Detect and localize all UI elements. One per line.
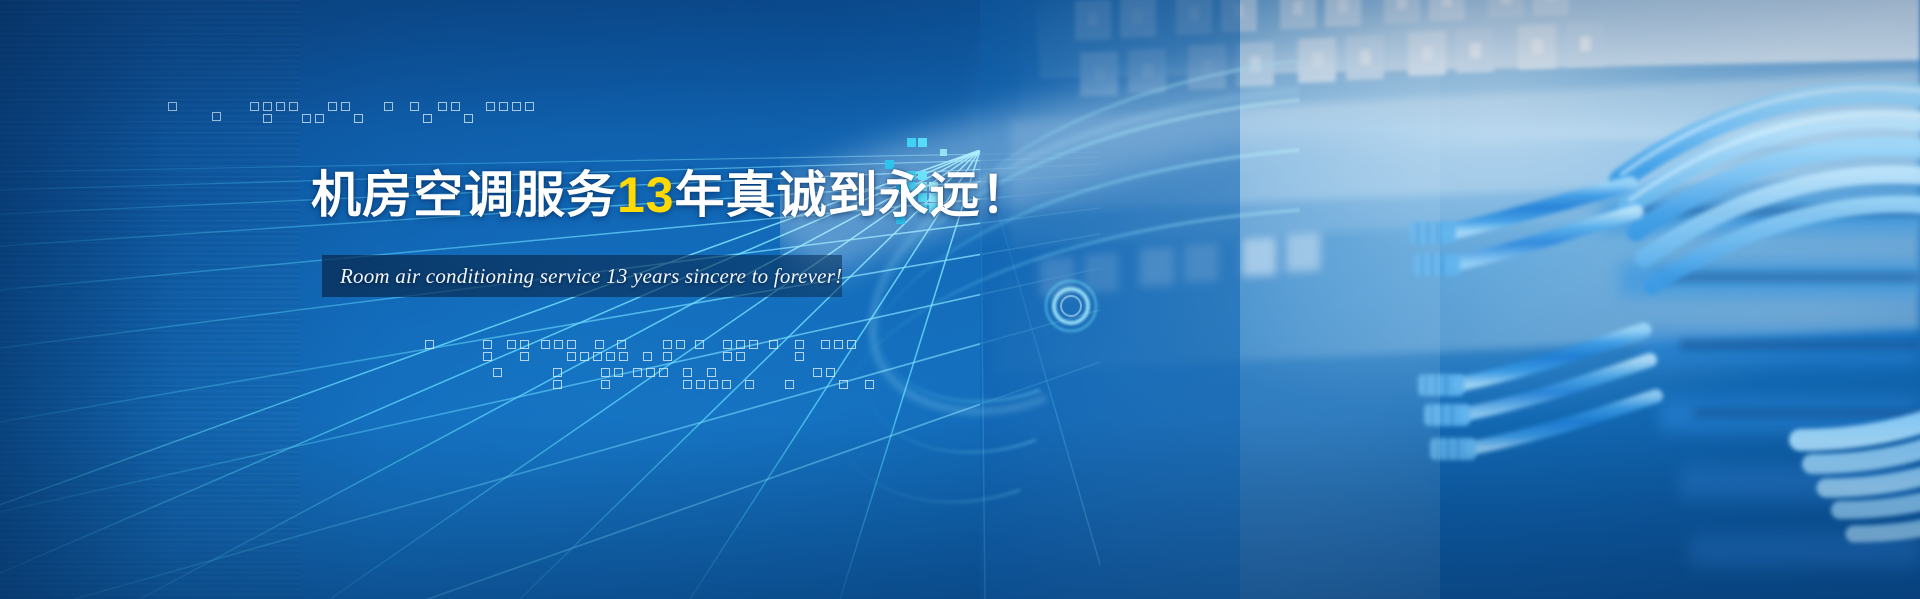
headline-prefix: 机房空调服务 — [311, 167, 617, 223]
headline-suffix: 年真诚到永远！ — [675, 167, 1032, 223]
headline: 机房空调服务13年真诚到永远！ — [311, 166, 1032, 224]
hero-banner: 机房空调服务13年真诚到永远！ Room air conditioning se… — [0, 0, 1920, 599]
edge-vignette — [0, 0, 1920, 599]
subtitle: Room air conditioning service 13 years s… — [340, 256, 842, 296]
headline-number: 13 — [617, 167, 675, 223]
